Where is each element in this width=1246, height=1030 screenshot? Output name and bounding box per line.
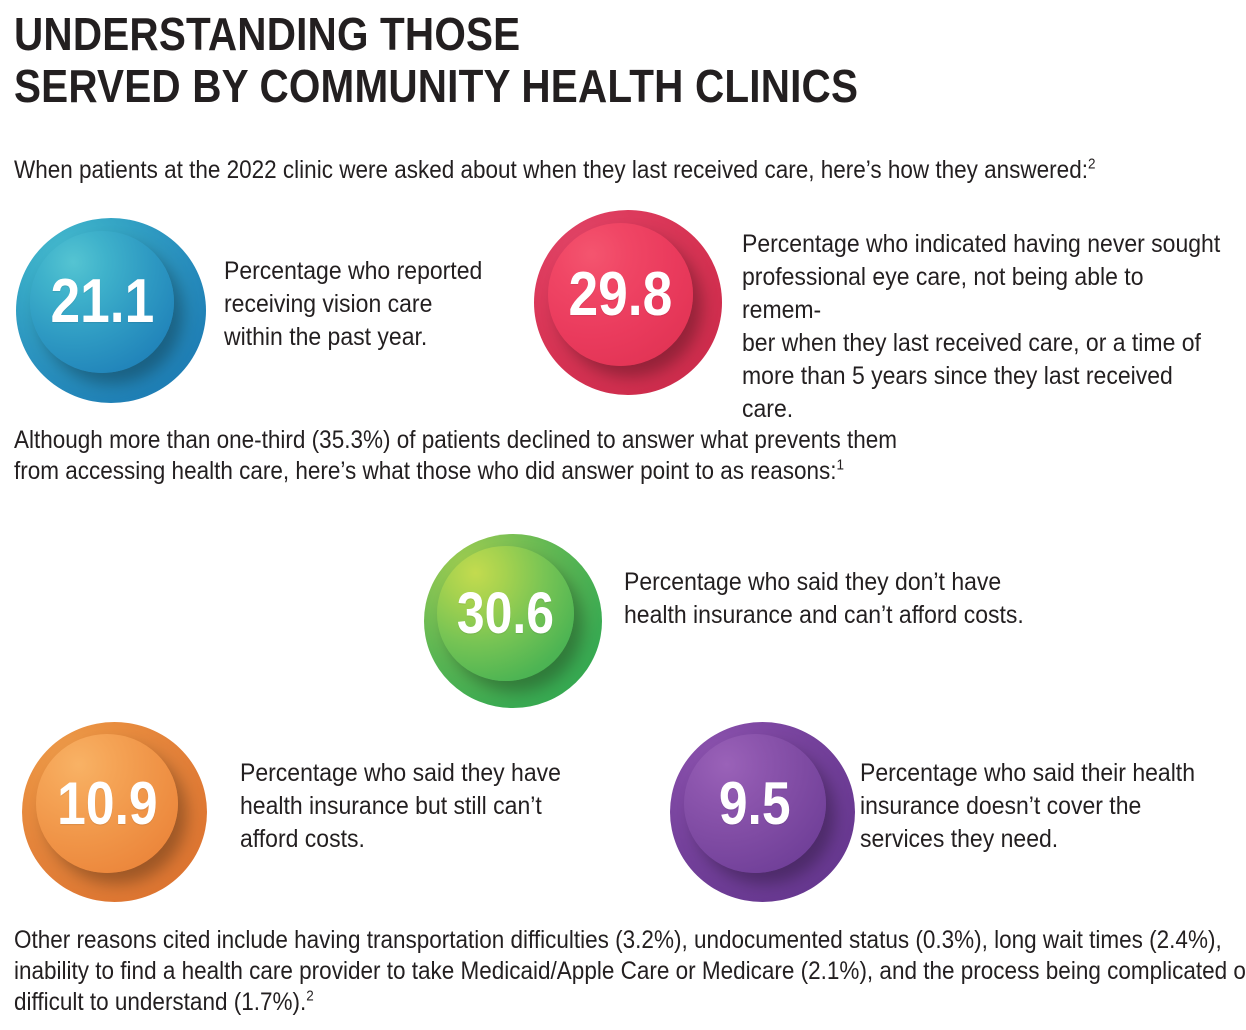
stat-value: 10.9 xyxy=(57,774,157,834)
title-line-2: SERVED BY COMMUNITY HEALTH CLINICS xyxy=(14,60,1070,112)
badge-inner-disc: 21.1 xyxy=(30,231,174,373)
mid-footnote-marker: 1 xyxy=(837,457,845,474)
stat-description-no-insurance-cant-afford: Percentage who said they don’t have heal… xyxy=(624,566,1084,632)
badge-inner-disc: 10.9 xyxy=(36,734,178,873)
stat-description-insurance-doesnt-cover: Percentage who said their health insuran… xyxy=(860,757,1228,856)
stat-badge-never-sought-eye-care: 29.8 xyxy=(534,210,722,395)
stat-badge-no-insurance-cant-afford: 30.6 xyxy=(424,534,602,708)
stat-description-insured-but-cant-afford: Percentage who said they have health ins… xyxy=(240,757,608,856)
stat-value: 29.8 xyxy=(569,264,673,326)
stat-badge-insurance-doesnt-cover: 9.5 xyxy=(670,722,855,902)
footnote-line-1: Other reasons cited include having trans… xyxy=(14,926,1222,954)
badge-inner-disc: 30.6 xyxy=(437,546,574,681)
intro-paragraph: When patients at the 2022 clinic were as… xyxy=(14,155,1095,186)
stat-description-vision-care-past-year: Percentage who reported receiving vision… xyxy=(224,255,500,354)
stat-value: 30.6 xyxy=(457,585,554,643)
footnote-line-3: difficult to understand (1.7%). xyxy=(14,988,306,1016)
mid-paragraph: Although more than one-third (35.3%) of … xyxy=(14,425,897,487)
page-title: UNDERSTANDING THOSE SERVED BY COMMUNITY … xyxy=(14,8,1214,112)
mid-paragraph-line-2: from accessing health care, here’s what … xyxy=(14,457,837,485)
foot-footnote-marker: 2 xyxy=(306,988,314,1005)
mid-paragraph-line-1: Although more than one-third (35.3%) of … xyxy=(14,426,897,454)
intro-paragraph-text: When patients at the 2022 clinic were as… xyxy=(14,156,1088,184)
badge-inner-disc: 29.8 xyxy=(548,223,693,366)
footnote-paragraph: Other reasons cited include having trans… xyxy=(14,925,1246,1018)
badge-inner-disc: 9.5 xyxy=(684,734,826,873)
intro-footnote-marker: 2 xyxy=(1088,156,1096,173)
stat-value: 21.1 xyxy=(50,271,154,333)
stat-value: 9.5 xyxy=(719,774,791,834)
stat-description-never-sought-eye-care: Percentage who indicated having never so… xyxy=(742,228,1220,426)
title-line-1: UNDERSTANDING THOSE xyxy=(14,8,1070,60)
stat-badge-insured-but-cant-afford: 10.9 xyxy=(22,722,207,902)
stat-badge-vision-care-past-year: 21.1 xyxy=(16,218,206,403)
footnote-line-2: inability to find a health care provider… xyxy=(14,957,1246,985)
